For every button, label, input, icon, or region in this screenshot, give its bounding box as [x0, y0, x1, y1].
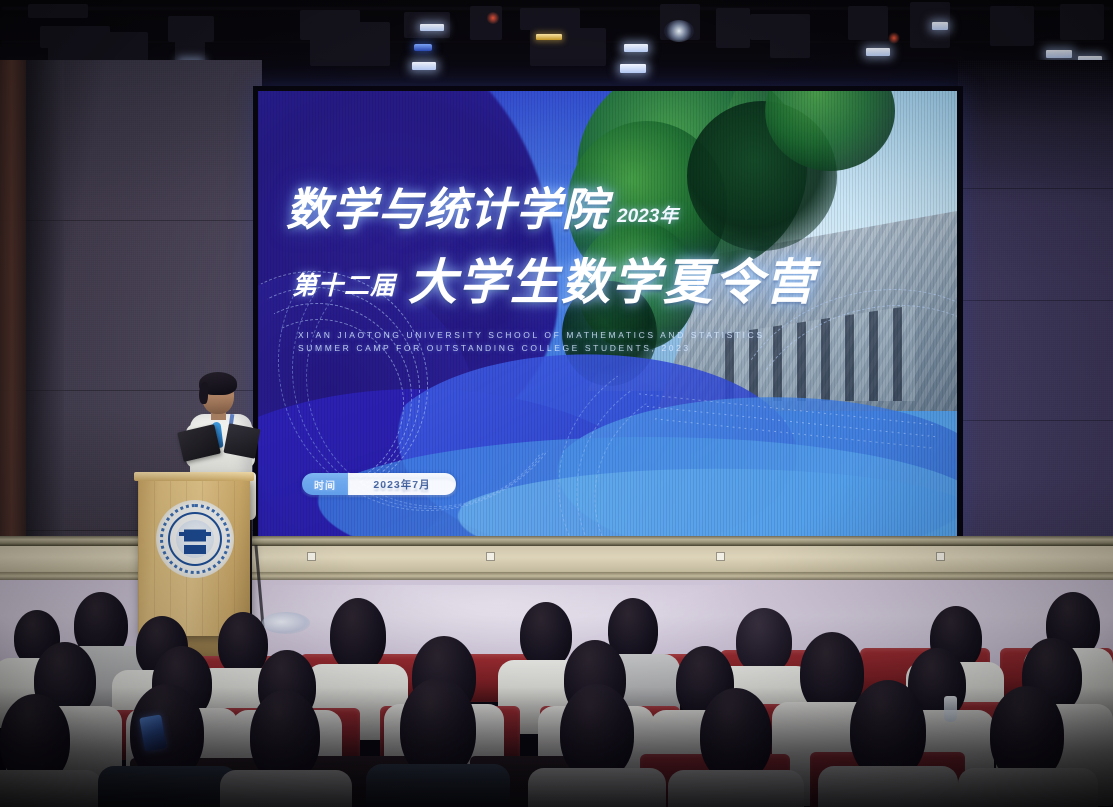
stage-light-red-1	[486, 12, 500, 24]
stage-light-blue	[414, 44, 432, 51]
stage-light-3	[412, 62, 436, 70]
screen-background-art	[258, 91, 957, 537]
screen-subtitle-en-line1: XI'AN JIAOTONG UNIVERSITY SCHOOL OF MATH…	[298, 329, 765, 342]
stage-marker	[716, 552, 725, 561]
stage-light-7	[932, 22, 948, 30]
stage-light-4	[624, 44, 648, 52]
podium-top-surface	[134, 472, 254, 481]
screen-title-line1: 数学与统计学院	[286, 187, 608, 232]
auditorium-scene: 数学与统计学院 2023年 第十二届 大学生数学夏令营 XI'AN JIAOTO…	[0, 0, 1113, 807]
screen-title-line1-group: 数学与统计学院 2023年	[286, 187, 678, 232]
stage-light-5	[620, 64, 646, 73]
xjtu-university-emblem	[156, 500, 234, 578]
screen-title-ordinal: 第十二届	[292, 266, 396, 308]
stage-light-glow-1	[664, 20, 694, 42]
info-pill-key-reflection: 时间	[302, 479, 348, 497]
screen-info-pill-reflection: 时间 2023年7月	[302, 479, 456, 497]
screen-title-line2-group: 第十二届 大学生数学夏令营	[292, 259, 816, 308]
stage-light-2	[420, 24, 444, 31]
water-bottle	[944, 696, 957, 722]
speaker-hair-side	[199, 382, 208, 404]
screen-subtitle-en-line2: SUMMER CAMP FOR OUTSTANDING COLLEGE STUD…	[298, 342, 765, 355]
stage-marker	[486, 552, 495, 561]
stage-light-red-2	[888, 32, 900, 44]
stage-light-8	[1046, 50, 1072, 58]
screen-subtitle-block: XI'AN JIAOTONG UNIVERSITY SCHOOL OF MATH…	[298, 329, 765, 355]
stage-light-6	[866, 48, 890, 56]
screen-title-year: 2023年	[617, 201, 678, 232]
info-pill-value-reflection: 2023年7月	[348, 479, 456, 497]
stage-light-amber	[536, 34, 562, 40]
stage-marker	[307, 552, 316, 561]
screen-title-line2: 大学生数学夏令营	[408, 259, 816, 308]
speaker-folder-right	[223, 423, 260, 459]
led-screen-surface[interactable]: 数学与统计学院 2023年 第十二届 大学生数学夏令营 XI'AN JIAOTO…	[258, 91, 957, 537]
stage-marker	[936, 552, 945, 561]
audience-area	[0, 588, 1113, 807]
led-screen-frame: 数学与统计学院 2023年 第十二届 大学生数学夏令营 XI'AN JIAOTO…	[253, 86, 963, 542]
